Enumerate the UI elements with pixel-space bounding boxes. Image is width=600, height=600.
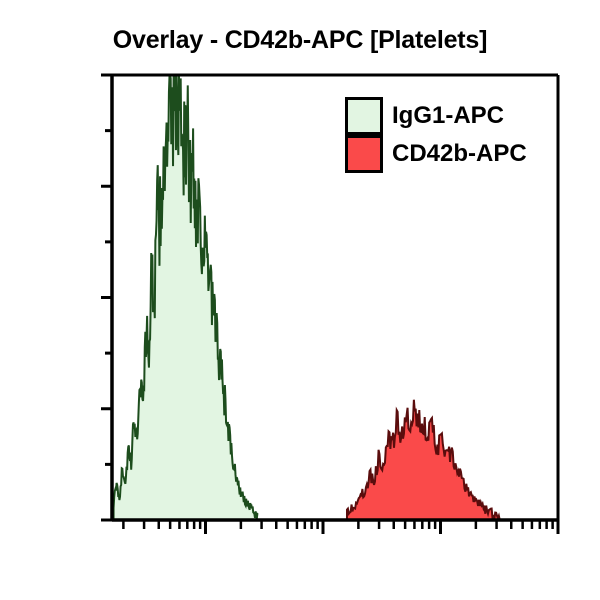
legend-item-cd42b[interactable]: CD42b-APC bbox=[345, 136, 527, 172]
plot-area bbox=[0, 0, 600, 600]
axis-layer bbox=[0, 0, 600, 600]
legend: IgG1-APC CD42b-APC bbox=[345, 98, 527, 174]
legend-item-igg1[interactable]: IgG1-APC bbox=[345, 98, 527, 134]
legend-swatch-igg1 bbox=[345, 97, 383, 135]
flow-cytometry-histogram-figure: Overlay - CD42b-APC [Platelets] Count 80… bbox=[0, 0, 600, 600]
plot-left-mask bbox=[0, 0, 112, 600]
legend-swatch-cd42b bbox=[345, 135, 383, 173]
legend-label-igg1: IgG1-APC bbox=[392, 102, 504, 130]
legend-label-cd42b: CD42b-APC bbox=[392, 140, 527, 168]
